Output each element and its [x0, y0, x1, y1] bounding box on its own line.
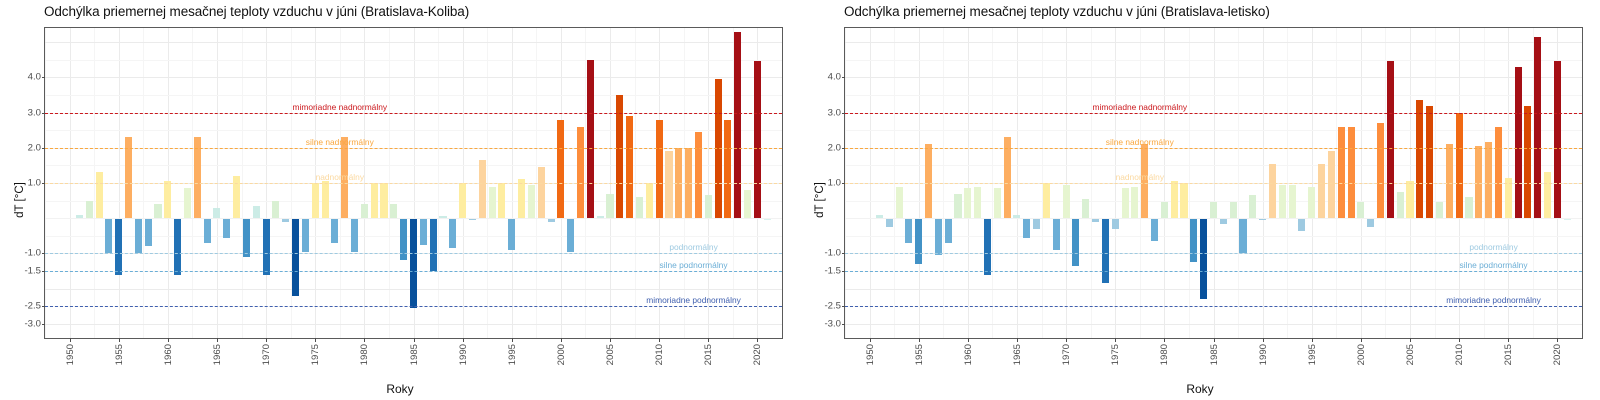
chart-title-left: Odchýlka priemernej mesačnej teploty vzd… [44, 4, 469, 19]
bar-1999 [1348, 127, 1355, 219]
bar-1953 [896, 187, 903, 219]
x-tick-mark [919, 338, 920, 342]
y-tick-label: -2.5 [824, 301, 841, 312]
bar-1964 [1004, 137, 1011, 218]
bar-1981 [371, 183, 378, 218]
threshold-label-3: podnormálny [669, 242, 717, 253]
x-tick-mark [512, 338, 513, 342]
x-tick-label: 2005 [1405, 344, 1416, 365]
x-tick-label: 1970 [1061, 344, 1072, 365]
threshold-label-4: silne podnormálny [660, 260, 728, 271]
x-tick-mark [217, 338, 218, 342]
y-tick-label: 2.0 [28, 142, 41, 153]
bar-1981 [1171, 181, 1178, 218]
bar-1967 [1033, 218, 1040, 229]
x-tick-label: 2020 [1552, 344, 1563, 365]
threshold-label-1: silne nadnormálny [1106, 137, 1174, 148]
bar-2014 [1495, 127, 1502, 219]
zero-baseline [845, 218, 1582, 219]
bar-1968 [1043, 183, 1050, 218]
y-axis-label-right: dT [°C] [814, 182, 826, 218]
threshold-label-2: nadnormálny [1116, 172, 1164, 183]
y-tick-label: 3.0 [28, 107, 41, 118]
bar-2017 [724, 120, 731, 219]
y-tick-label: 4.0 [28, 72, 41, 83]
threshold-line-5 [845, 306, 1582, 307]
x-tick-mark [1214, 338, 1215, 342]
bar-2001 [1367, 218, 1374, 227]
x-tick-label: 2015 [703, 344, 714, 365]
threshold-line-2 [45, 183, 782, 184]
bar-1960 [964, 188, 971, 218]
threshold-line-4 [45, 271, 782, 272]
bar-1986 [420, 218, 427, 244]
threshold-line-0 [845, 113, 1582, 114]
bar-1992 [1279, 185, 1286, 218]
y-tick-mark [842, 183, 845, 184]
x-tick-label: 2015 [1503, 344, 1514, 365]
bar-1958 [945, 218, 952, 243]
y-tick-label: -1.5 [24, 266, 41, 277]
bar-1982 [1180, 183, 1187, 218]
bar-1963 [194, 137, 201, 218]
bar-1970 [1063, 185, 1070, 218]
bar-1990 [459, 183, 466, 218]
bar-1955 [915, 218, 922, 264]
bar-1994 [1298, 218, 1305, 230]
y-tick-mark [842, 253, 845, 254]
bar-1993 [489, 187, 496, 219]
x-tick-label: 1970 [261, 344, 272, 365]
bar-2000 [557, 120, 564, 219]
bar-1955 [115, 218, 122, 274]
bar-1975 [1112, 218, 1119, 229]
bar-1995 [508, 218, 515, 250]
x-tick-mark [1066, 338, 1067, 342]
bar-2005 [1406, 181, 1413, 218]
y-tick-mark [42, 324, 45, 325]
bar-1975 [312, 183, 319, 218]
bar-1957 [135, 218, 142, 253]
bar-1983 [390, 204, 397, 218]
bar-1971 [1072, 218, 1079, 266]
gridline-horizontal [845, 289, 1582, 290]
gridline-horizontal [845, 236, 1582, 237]
gridline-horizontal [45, 42, 782, 43]
bar-2010 [656, 120, 663, 219]
x-tick-mark [659, 338, 660, 342]
bar-1958 [145, 218, 152, 246]
bar-2007 [1426, 106, 1433, 219]
x-tick-label: 1980 [359, 344, 370, 365]
bar-2018 [734, 32, 741, 219]
bar-2003 [587, 60, 594, 219]
bar-1962 [984, 218, 991, 274]
y-tick-mark [842, 306, 845, 307]
gridline-horizontal [845, 95, 1582, 96]
threshold-line-5 [45, 306, 782, 307]
gridline-horizontal [845, 324, 1582, 325]
y-tick-mark [842, 113, 845, 114]
bar-2016 [1515, 67, 1522, 218]
x-tick-mark [968, 338, 969, 342]
x-tick-label: 2010 [1454, 344, 1465, 365]
x-tick-mark [70, 338, 71, 342]
bar-1959 [154, 204, 161, 218]
x-tick-mark [315, 338, 316, 342]
bar-1989 [449, 218, 456, 248]
zero-baseline [45, 218, 782, 219]
x-tick-mark [561, 338, 562, 342]
x-tick-label: 1965 [212, 344, 223, 365]
bar-1974 [302, 218, 309, 251]
bar-2006 [1416, 100, 1423, 218]
threshold-line-1 [845, 148, 1582, 149]
bar-1979 [351, 218, 358, 251]
gridline-horizontal [845, 60, 1582, 61]
threshold-label-0: mimoriadne nadnormálny [1093, 102, 1188, 113]
x-tick-mark [1017, 338, 1018, 342]
x-tick-label: 1975 [1110, 344, 1121, 365]
threshold-line-3 [45, 253, 782, 254]
bar-2020 [754, 61, 761, 218]
x-tick-label: 2000 [1356, 344, 1367, 365]
x-tick-mark [708, 338, 709, 342]
bar-1956 [925, 144, 932, 218]
bar-2008 [1436, 202, 1443, 218]
x-tick-label: 1980 [1159, 344, 1170, 365]
x-tick-mark [463, 338, 464, 342]
x-tick-label: 1950 [865, 344, 876, 365]
y-tick-mark [842, 77, 845, 78]
y-tick-mark [42, 306, 45, 307]
y-tick-mark [42, 183, 45, 184]
bar-1969 [1053, 218, 1060, 250]
threshold-label-4: silne podnormálny [1460, 260, 1528, 271]
bar-2008 [636, 197, 643, 218]
x-tick-mark [1459, 338, 1460, 342]
threshold-line-4 [845, 271, 1582, 272]
x-tick-label: 1990 [1258, 344, 1269, 365]
bar-1957 [935, 218, 942, 255]
bar-1980 [361, 204, 368, 218]
bar-1970 [263, 218, 270, 274]
bar-1960 [164, 181, 171, 218]
x-tick-label: 2005 [605, 344, 616, 365]
bar-2010 [1456, 113, 1463, 219]
bar-2009 [1446, 144, 1453, 218]
bar-2007 [626, 116, 633, 218]
bar-1954 [905, 218, 912, 243]
bar-1985 [1210, 202, 1217, 218]
x-tick-mark [870, 338, 871, 342]
figure-root: Odchýlka priemernej mesačnej teploty vzd… [0, 0, 1600, 400]
gridline-horizontal [45, 324, 782, 325]
bar-2003 [1387, 61, 1394, 218]
y-tick-mark [842, 148, 845, 149]
threshold-label-2: nadnormálny [316, 172, 364, 183]
bar-1993 [1289, 185, 1296, 218]
y-tick-mark [842, 324, 845, 325]
x-tick-mark [119, 338, 120, 342]
x-tick-mark [610, 338, 611, 342]
x-tick-label: 1950 [65, 344, 76, 365]
bar-1982 [380, 183, 387, 218]
bar-1988 [1239, 218, 1246, 253]
bar-1992 [479, 160, 486, 218]
chart-panel-letisko: Odchýlka priemernej mesačnej teploty vzd… [800, 0, 1600, 400]
bar-1987 [430, 218, 437, 271]
gridline-horizontal [845, 165, 1582, 166]
threshold-line-1 [45, 148, 782, 149]
bar-1985 [410, 218, 417, 308]
bar-1953 [96, 172, 103, 218]
bar-2013 [1485, 142, 1492, 218]
x-tick-mark [1361, 338, 1362, 342]
bar-1998 [1338, 127, 1345, 219]
bar-1954 [105, 218, 112, 253]
x-tick-mark [168, 338, 169, 342]
x-tick-label: 1960 [963, 344, 974, 365]
x-tick-label: 1985 [1209, 344, 1220, 365]
bar-1995 [1308, 187, 1315, 219]
bar-1991 [1269, 164, 1276, 219]
bar-2005 [606, 194, 613, 219]
x-tick-label: 2000 [556, 344, 567, 365]
chart-title-right: Odchýlka priemernej mesačnej teploty vzd… [844, 4, 1270, 19]
bar-1961 [974, 187, 981, 219]
bar-2019 [744, 190, 751, 218]
x-tick-label: 1955 [114, 344, 125, 365]
x-tick-label: 2010 [654, 344, 665, 365]
bar-1987 [1230, 202, 1237, 218]
y-tick-label: 1.0 [828, 178, 841, 189]
bar-1996 [518, 179, 525, 218]
bar-2011 [1465, 197, 1472, 218]
bar-1966 [223, 218, 230, 237]
bar-1976 [1122, 188, 1129, 218]
bar-1956 [125, 137, 132, 218]
x-axis-label-left: Roky [0, 382, 800, 396]
bar-1980 [1161, 202, 1168, 218]
x-tick-label: 1985 [409, 344, 420, 365]
y-tick-mark [42, 271, 45, 272]
bar-1994 [498, 183, 505, 218]
chart-panel-koliba: Odchýlka priemernej mesačnej teploty vzd… [0, 0, 800, 400]
x-tick-mark [1115, 338, 1116, 342]
bar-2019 [1544, 172, 1551, 218]
threshold-label-5: mimoriadne podnormálny [646, 295, 741, 306]
bar-1977 [331, 218, 338, 243]
bar-1998 [538, 167, 545, 218]
x-tick-mark [1508, 338, 1509, 342]
y-tick-label: 4.0 [828, 72, 841, 83]
bar-1963 [994, 188, 1001, 218]
x-tick-mark [266, 338, 267, 342]
x-tick-label: 2020 [752, 344, 763, 365]
bar-2020 [1554, 61, 1561, 218]
bar-1961 [174, 218, 181, 274]
bar-1965 [213, 208, 220, 219]
x-tick-mark [1263, 338, 1264, 342]
gridline-horizontal [45, 60, 782, 61]
bar-1962 [184, 188, 191, 218]
y-tick-mark [42, 77, 45, 78]
bar-1989 [1249, 195, 1256, 218]
y-axis-label-left: dT [°C] [14, 182, 26, 218]
gridline-horizontal [845, 130, 1582, 131]
gridline-horizontal [845, 42, 1582, 43]
bar-2014 [695, 132, 702, 218]
bar-1972 [1082, 199, 1089, 218]
bar-1959 [954, 194, 961, 219]
threshold-label-3: podnormálny [1469, 242, 1517, 253]
y-tick-label: -2.5 [24, 301, 41, 312]
bar-1952 [886, 218, 893, 227]
bar-2004 [1397, 192, 1404, 218]
threshold-line-3 [845, 253, 1582, 254]
bar-1996 [1318, 164, 1325, 219]
bar-1971 [272, 201, 279, 219]
bar-1969 [253, 206, 260, 218]
threshold-line-0 [45, 113, 782, 114]
y-tick-label: -1.0 [824, 248, 841, 259]
x-tick-mark [364, 338, 365, 342]
bar-1976 [322, 181, 329, 218]
y-tick-label: -3.0 [24, 318, 41, 329]
x-axis-label-right: Roky [800, 382, 1600, 396]
bar-1973 [292, 218, 299, 296]
x-tick-label: 1995 [507, 344, 518, 365]
gridline-horizontal [45, 95, 782, 96]
gridline-horizontal [45, 130, 782, 131]
bar-1979 [1151, 218, 1158, 241]
x-tick-mark [1164, 338, 1165, 342]
plot-area-right: mimoriadne nadnormálnysilne nadnormálnyn… [844, 27, 1583, 339]
bar-1952 [86, 201, 93, 219]
y-tick-label: 1.0 [28, 178, 41, 189]
bar-1997 [528, 185, 535, 218]
x-tick-mark [414, 338, 415, 342]
x-tick-mark [1410, 338, 1411, 342]
bar-1983 [1190, 218, 1197, 262]
bar-2000 [1357, 202, 1364, 218]
threshold-label-1: silne nadnormálny [306, 137, 374, 148]
bar-2018 [1534, 37, 1541, 218]
gridline-horizontal [45, 77, 782, 78]
y-tick-mark [842, 271, 845, 272]
x-tick-mark [1312, 338, 1313, 342]
y-tick-label: -1.5 [824, 266, 841, 277]
bar-2002 [1377, 123, 1384, 218]
threshold-label-5: mimoriadne podnormálny [1446, 295, 1541, 306]
y-tick-mark [42, 113, 45, 114]
bar-2009 [646, 183, 653, 218]
bar-1997 [1328, 151, 1335, 218]
x-tick-label: 1960 [163, 344, 174, 365]
x-tick-label: 1965 [1012, 344, 1023, 365]
y-tick-label: -1.0 [24, 248, 41, 259]
x-tick-label: 1955 [914, 344, 925, 365]
gridline-horizontal [845, 77, 1582, 78]
y-tick-label: -3.0 [824, 318, 841, 329]
y-tick-mark [42, 253, 45, 254]
x-tick-mark [1557, 338, 1558, 342]
bar-1984 [1200, 218, 1207, 299]
bar-2011 [665, 151, 672, 218]
threshold-label-0: mimoriadne nadnormálny [293, 102, 388, 113]
bar-1977 [1131, 187, 1138, 219]
x-tick-label: 1975 [310, 344, 321, 365]
bar-2015 [705, 195, 712, 218]
bar-2001 [567, 218, 574, 251]
x-tick-mark [757, 338, 758, 342]
y-tick-label: 2.0 [828, 142, 841, 153]
bar-1964 [204, 218, 211, 243]
bar-2017 [1524, 106, 1531, 219]
x-tick-label: 1990 [458, 344, 469, 365]
bar-2002 [577, 127, 584, 219]
y-tick-label: 3.0 [828, 107, 841, 118]
y-tick-mark [42, 148, 45, 149]
x-tick-label: 1995 [1307, 344, 1318, 365]
bar-1968 [243, 218, 250, 257]
bar-1966 [1023, 218, 1030, 237]
bar-1974 [1102, 218, 1109, 283]
threshold-line-2 [845, 183, 1582, 184]
plot-area-left: mimoriadne nadnormálnysilne nadnormálnyn… [44, 27, 783, 339]
